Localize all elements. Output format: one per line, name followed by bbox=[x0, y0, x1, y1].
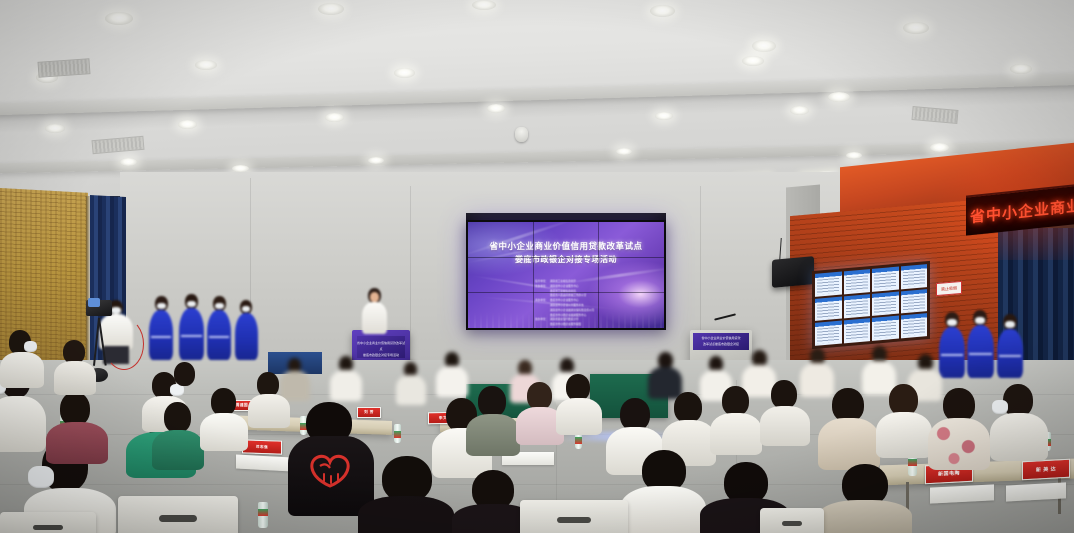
head bbox=[832, 388, 864, 422]
screen-title-line1: 省中小企业商业价值信用贷款改革试点 bbox=[468, 240, 664, 252]
placard-text: 邓志强 bbox=[256, 444, 268, 449]
ceiling-downlight bbox=[616, 148, 632, 155]
torso bbox=[466, 414, 520, 456]
hostess-left-3 bbox=[206, 296, 232, 360]
ceiling-downlight bbox=[120, 158, 137, 166]
head bbox=[674, 392, 702, 423]
hostess-left-1 bbox=[148, 296, 174, 360]
panel-bezel bbox=[533, 222, 534, 328]
ceiling-downlight bbox=[828, 92, 850, 102]
dress-belt bbox=[941, 354, 963, 356]
water-bottle bbox=[258, 502, 268, 528]
credit-row: 承办单位： 娄底市中小企业服务中心 bbox=[526, 299, 630, 303]
torso bbox=[990, 413, 1048, 461]
face-mask bbox=[28, 466, 54, 488]
audience-member bbox=[466, 386, 520, 452]
torso bbox=[165, 383, 205, 415]
audience-member bbox=[248, 372, 290, 424]
face-mask bbox=[157, 303, 166, 309]
audience-member bbox=[876, 384, 932, 454]
torso bbox=[876, 412, 932, 458]
placard-text: 新 美 达 bbox=[1036, 465, 1056, 473]
right-lectern-plate: 省中小企业商业价值信用贷款 改革试点娄底市政银企对接 bbox=[693, 333, 749, 350]
face-mask bbox=[187, 301, 196, 307]
head bbox=[566, 374, 590, 401]
torso bbox=[330, 370, 362, 401]
ceiling-air-vent bbox=[38, 58, 91, 78]
hostess-right-3 bbox=[996, 314, 1024, 378]
document-papers bbox=[930, 484, 994, 503]
panel-bezel bbox=[468, 257, 664, 258]
face-mask bbox=[947, 319, 957, 326]
head bbox=[211, 388, 236, 416]
audience-member bbox=[556, 374, 602, 432]
face-mask bbox=[111, 307, 121, 314]
torso bbox=[556, 398, 602, 435]
ceiling-downlight bbox=[1010, 64, 1032, 74]
document-papers bbox=[236, 455, 292, 472]
ceiling-downlight bbox=[195, 60, 217, 70]
poster-cell bbox=[844, 294, 871, 319]
audience-back-row bbox=[396, 362, 426, 404]
ceiling-downlight bbox=[655, 112, 673, 120]
wall-seam bbox=[410, 186, 411, 366]
left-podium-line1: 省中小企业商业价值信用贷款改革试点 bbox=[357, 340, 405, 352]
hostess-left-2 bbox=[178, 294, 205, 360]
hostess-dress bbox=[997, 329, 1023, 378]
ceiling-downlight bbox=[487, 104, 505, 113]
ceiling-downlight bbox=[472, 0, 496, 10]
ceiling-downlight bbox=[903, 22, 929, 34]
hostess-dress bbox=[235, 313, 258, 360]
torso bbox=[152, 430, 204, 470]
torso bbox=[436, 366, 468, 397]
dress-belt bbox=[209, 336, 229, 338]
poster-cell bbox=[815, 272, 842, 297]
credit-row: 湖南省中小企业公共服务平台 bbox=[526, 304, 630, 308]
ceiling-downlight bbox=[790, 106, 809, 115]
left-podium-line2: 娄底市政银企对接专场活动 bbox=[357, 352, 405, 358]
head bbox=[722, 386, 749, 416]
torso bbox=[818, 418, 880, 470]
credit-row: 指导单位： 湖南省工业和信息化厅 bbox=[526, 280, 630, 284]
credit-value: 湖南省中小企业公共服务平台 bbox=[550, 304, 584, 308]
presenter-face bbox=[370, 292, 379, 302]
credit-row: 主办单位： 湖南省中小企业服务中心 bbox=[526, 285, 630, 289]
torso bbox=[46, 422, 108, 464]
head bbox=[478, 386, 506, 417]
face-mask bbox=[215, 303, 224, 309]
audience-member bbox=[818, 464, 912, 533]
poster-cell bbox=[872, 267, 899, 292]
ceiling-downlight bbox=[325, 113, 344, 122]
face-mask bbox=[975, 317, 985, 324]
credit-value: 娄底市中小企业服务中心 bbox=[550, 299, 579, 303]
hostess-dress bbox=[179, 308, 204, 360]
torso bbox=[248, 394, 290, 428]
audience-member bbox=[200, 388, 248, 448]
face-mask bbox=[24, 341, 37, 352]
no-smoking-sign: 禁止吸烟 bbox=[936, 281, 962, 296]
right-lectern-line2: 改革试点娄底市政银企对接 bbox=[693, 342, 749, 348]
audience-member-floral bbox=[928, 388, 990, 466]
poster-cell bbox=[901, 289, 928, 314]
head bbox=[527, 382, 552, 410]
ceiling-downlight bbox=[178, 120, 197, 129]
hostess-dress bbox=[939, 327, 965, 378]
head bbox=[943, 388, 975, 422]
ceiling-downlight bbox=[650, 5, 675, 17]
dress-belt bbox=[969, 353, 992, 355]
credit-label: 主办单位： bbox=[526, 285, 548, 289]
audience-member bbox=[818, 388, 880, 466]
torso bbox=[928, 418, 990, 470]
water-bottle bbox=[394, 424, 401, 443]
ceiling-downlight bbox=[45, 124, 65, 133]
head bbox=[60, 392, 90, 426]
audience-member bbox=[710, 386, 762, 452]
poster-cell bbox=[815, 321, 842, 346]
ceiling-downlight bbox=[368, 157, 384, 164]
hostess-right-1 bbox=[938, 312, 966, 378]
torso bbox=[620, 486, 706, 533]
name-placard: 邓志强 bbox=[242, 439, 282, 454]
no-smoking-sign-text: 禁止吸烟 bbox=[941, 285, 957, 292]
face-mask bbox=[992, 400, 1008, 414]
credit-value: 娄底市人民政府金融工作办公室 bbox=[550, 294, 586, 298]
audience-member bbox=[0, 330, 44, 386]
ceiling-downlight bbox=[846, 152, 862, 159]
poster-cell bbox=[844, 318, 871, 343]
torso bbox=[710, 413, 762, 455]
presenter-at-podium bbox=[360, 288, 390, 336]
chair-back bbox=[0, 512, 96, 533]
credit-value: 湖南省中小企业服务中心 bbox=[550, 285, 579, 289]
poster-cell bbox=[901, 313, 928, 338]
face-mask bbox=[242, 306, 250, 312]
dress-belt bbox=[151, 336, 171, 338]
chair-back bbox=[520, 500, 628, 533]
hostess-dress bbox=[149, 310, 173, 360]
credit-label: 承办单位： bbox=[526, 299, 548, 303]
ceiling-downlight bbox=[930, 143, 949, 152]
panel-bezel bbox=[598, 222, 599, 328]
torso bbox=[396, 375, 426, 405]
poster-cell bbox=[872, 291, 899, 316]
torso bbox=[760, 406, 810, 446]
audience-back-row bbox=[436, 352, 468, 396]
screen-skyline-graphic bbox=[468, 312, 664, 328]
credit-label: 指导单位： bbox=[526, 280, 548, 284]
smoke-detector-icon bbox=[515, 127, 528, 142]
ceiling-downlight bbox=[752, 40, 776, 52]
audience-member bbox=[54, 340, 96, 392]
ceiling-downlight bbox=[394, 68, 415, 78]
ceiling-downlight bbox=[105, 12, 133, 25]
led-banner-text: 省中小企业商业价值 bbox=[966, 191, 1074, 228]
chair-back bbox=[760, 508, 824, 533]
video-wall: 省中小企业商业价值信用贷款改革试点 娄底市政银企对接专场活动 指导单位： 湖南省… bbox=[466, 220, 666, 330]
hostess-dress bbox=[967, 325, 994, 378]
wall-speaker bbox=[772, 256, 814, 288]
poster-cell bbox=[901, 264, 928, 289]
ceiling-downlight bbox=[742, 56, 764, 66]
camera-monitor bbox=[88, 298, 100, 307]
name-placard: 新 美 达 bbox=[1022, 459, 1070, 481]
ceiling-downlight bbox=[318, 3, 344, 15]
torso bbox=[0, 352, 44, 388]
audience-member bbox=[990, 384, 1048, 458]
audience-back-row bbox=[330, 356, 362, 400]
torso bbox=[818, 500, 912, 533]
audience-member bbox=[620, 450, 706, 533]
presenter-body bbox=[362, 302, 387, 334]
poster-lightbox-board bbox=[812, 261, 930, 349]
torso bbox=[358, 496, 454, 533]
ceiling-downlight bbox=[232, 165, 249, 172]
torso bbox=[54, 361, 96, 395]
left-podium-plate: 省中小企业商业价值信用贷款改革试点 娄底市政银企对接专场活动 bbox=[357, 336, 405, 358]
placard-text: 新国电陶 bbox=[938, 469, 960, 477]
poster-cell bbox=[815, 296, 842, 321]
chair-back bbox=[118, 496, 238, 533]
poster-cell bbox=[872, 316, 899, 341]
ceiling-air-vent bbox=[911, 106, 958, 124]
heart-graphic-icon bbox=[304, 450, 356, 490]
panel-bezel bbox=[468, 292, 664, 293]
hostess-right-2 bbox=[966, 310, 995, 378]
head bbox=[771, 380, 797, 409]
credit-row: 娄底市人民政府金融工作办公室 bbox=[526, 294, 630, 298]
hostess-left-4 bbox=[234, 300, 259, 360]
audience-member bbox=[165, 362, 205, 412]
dress-belt bbox=[181, 335, 202, 337]
torso bbox=[200, 413, 248, 451]
conference-hall-photo: 省中小企业商业价值 省中小企业商业价值信用贷款改革试点 娄底市政银企对接专场活动… bbox=[0, 0, 1074, 533]
screen-title-line2: 娄底市政银企对接专场活动 bbox=[468, 254, 664, 266]
document-papers bbox=[1006, 482, 1066, 501]
audience-member bbox=[46, 392, 108, 462]
face-mask bbox=[1005, 321, 1015, 328]
camera-cable bbox=[104, 318, 144, 370]
hostess-dress bbox=[207, 310, 231, 360]
dress-belt bbox=[999, 355, 1021, 357]
poster-cell bbox=[844, 269, 871, 294]
audience-member bbox=[760, 380, 810, 442]
credit-value: 湖南省工业和信息化厅 bbox=[550, 280, 576, 284]
ceiling-air-vent bbox=[91, 136, 144, 154]
